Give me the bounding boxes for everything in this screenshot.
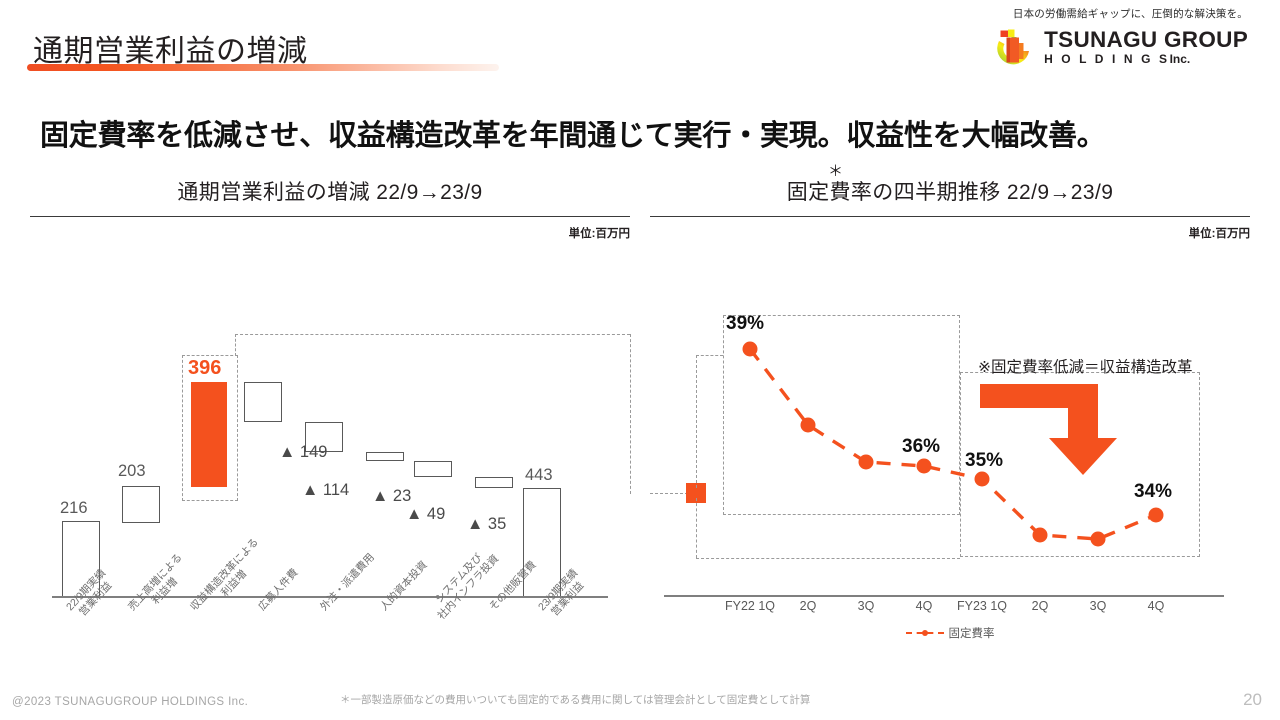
waterfall-value-3: 396 [188, 357, 221, 380]
waterfall-value-5: ▲ 114 [302, 481, 349, 500]
x-tick-fy22-3q: 3Q [836, 599, 896, 613]
waterfall-category-4: 広募人件費 [256, 567, 301, 614]
brand-subname-text: H O L D I N G S [1044, 52, 1169, 66]
x-tick-fy23-2q: 2Q [1010, 599, 1070, 613]
brand-tagline: 日本の労働需給ギャップに、圧倒的な解決策を。 [978, 6, 1248, 21]
left-panel-divider [30, 216, 630, 217]
point-label-fy23-4q: 34% [1134, 481, 1172, 503]
waterfall-chart: 216 203 396 ▲ 149 ▲ 114 ▲ 23 ▲ 49 ▲ 35 4… [30, 247, 630, 667]
point-label-fy23-1q: 35% [965, 450, 1003, 472]
waterfall-bracket-right [630, 334, 631, 494]
page-number: 20 [1243, 690, 1262, 710]
waterfall-bracket-top [235, 334, 630, 335]
waterfall-bracket-left [235, 334, 236, 356]
left-chart-panel: 通期営業利益の増減 22/9→23/9 単位:百万円 216 203 396 ▲… [30, 176, 630, 667]
legend-dot-marker [922, 630, 928, 636]
waterfall-value-4: ▲ 149 [279, 443, 327, 462]
waterfall-value-2: 203 [118, 462, 146, 481]
fixed-cost-ratio-series [650, 247, 1250, 607]
tsunagu-logo-icon [991, 25, 1037, 69]
legend-line-swatch [906, 628, 944, 638]
waterfall-category-7: システム及び社内インフラ投資 [426, 544, 502, 623]
left-chart-unit: 単位:百万円 [30, 225, 630, 241]
right-chart-unit: 単位:百万円 [650, 225, 1250, 241]
lead-statement: 固定費率を低減させ、収益構造改革を年間通じて実行・実現。収益性を大幅改善。 [40, 112, 1240, 154]
footer-copyright: @2023 TSUNAGUGROUP HOLDINGS Inc. [12, 696, 248, 708]
point-label-fy22-4q: 36% [902, 436, 940, 458]
x-tick-fy23-3q: 3Q [1068, 599, 1128, 613]
point-label-fy22-1q: 39% [726, 313, 764, 335]
waterfall-bar-9 [523, 488, 561, 598]
waterfall-bar-6 [366, 452, 404, 461]
linechart-legend: 固定費率 [650, 625, 1250, 641]
waterfall-bar-3-accent [191, 382, 227, 487]
right-chart-panel: ＊ 固定費率の四半期推移 22/9→23/9 単位:百万円 ※固定費率低減＝収益… [650, 176, 1250, 667]
brand-wordmark: TSUNAGU GROUP H O L D I N G SInc. [1044, 29, 1248, 66]
waterfall-value-9: 443 [525, 466, 553, 485]
waterfall-bar-4 [244, 382, 282, 422]
brand-name: TSUNAGU GROUP [1044, 29, 1248, 52]
title-underline-accent [27, 64, 499, 71]
brand-logo-row: TSUNAGU GROUP H O L D I N G SInc. [978, 25, 1248, 69]
right-chart-title: ＊ 固定費率の四半期推移 22/9→23/9 [650, 176, 1250, 206]
waterfall-category-6: 人的資本投資 [378, 559, 430, 614]
waterfall-bar-7 [414, 461, 452, 477]
waterfall-bar-8 [475, 477, 513, 488]
brand-block: 日本の労働需給ギャップに、圧倒的な解決策を。 TSUNAGU GROUP H O… [978, 6, 1248, 69]
brand-inc-text: Inc. [1170, 52, 1191, 66]
legend-label: 固定費率 [949, 625, 995, 641]
right-chart-title-text: 固定費率の四半期推移 22/9→23/9 [787, 181, 1114, 204]
x-tick-fy23-4q: 4Q [1126, 599, 1186, 613]
x-tick-fy22-2q: 2Q [778, 599, 838, 613]
right-panel-divider [650, 216, 1250, 217]
waterfall-category-3: 収益構造改革による利益増 [188, 536, 271, 622]
footer-footnote: ＊一部製造原価などの費用いついても固定的である費用に関しては管理会計として固定費… [340, 692, 810, 707]
waterfall-value-7: ▲ 49 [406, 505, 445, 524]
waterfall-value-8: ▲ 35 [467, 515, 506, 534]
waterfall-category-5: 外注・派遣費用 [318, 551, 377, 613]
waterfall-value-6: ▲ 23 [372, 487, 411, 506]
waterfall-category-2: 売上高増による利益増 [126, 551, 195, 622]
right-chart-asterisk: ＊ [828, 160, 843, 181]
linechart-baseline-axis [664, 595, 1224, 598]
brand-subname: H O L D I N G SInc. [1044, 53, 1248, 65]
fixed-cost-ratio-line-chart: ※固定費率低減＝収益構造改革 39% 36% 35% 34% FY22 1 [650, 247, 1250, 667]
waterfall-bar-2 [122, 486, 160, 523]
left-chart-title: 通期営業利益の増減 22/9→23/9 [30, 176, 630, 206]
waterfall-value-1: 216 [60, 499, 88, 518]
